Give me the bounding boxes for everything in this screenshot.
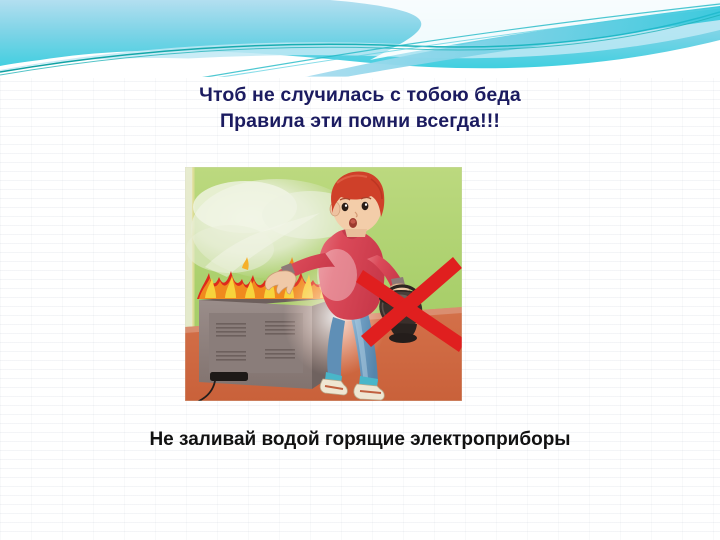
illustration-boy-pouring-water-on-burning-appliance [185, 167, 462, 401]
decorative-wave-banner [0, 0, 720, 78]
slide-canvas: Чтоб не случилась с тобою беда Правила э… [0, 0, 720, 540]
caption-text: Не заливай водой горящие электроприборы [0, 428, 720, 452]
illustration-artwork [185, 167, 462, 401]
page-title: Чтоб не случилась с тобою беда Правила э… [0, 82, 720, 134]
title-line-2: Правила эти помни всегда!!! [0, 108, 720, 134]
title-line-1: Чтоб не случилась с тобою беда [0, 82, 720, 108]
